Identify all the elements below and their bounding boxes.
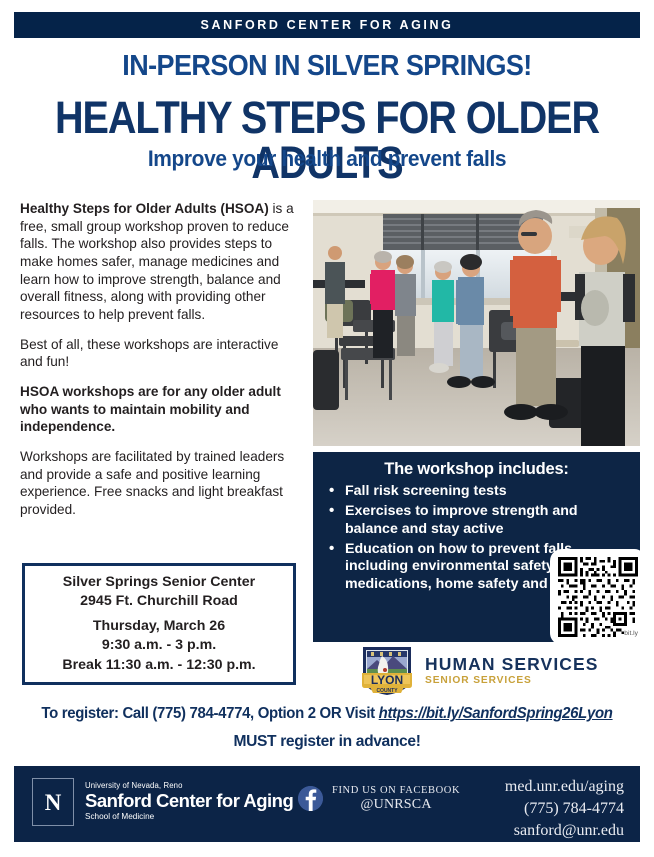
paragraph-intro-lead: Healthy Steps for Older Adults (HSOA) xyxy=(20,201,269,216)
page-title: HEALTHY STEPS FOR OLDER ADULTS xyxy=(39,95,615,185)
facebook-text-block: FIND US ON FACEBOOK @UNRSCA xyxy=(332,784,460,814)
svg-text:N: N xyxy=(45,790,62,815)
workshop-photo xyxy=(313,200,640,446)
footer-email[interactable]: sanford@unr.edu xyxy=(505,820,624,842)
svg-text:bit.ly: bit.ly xyxy=(624,630,638,637)
partner-name-block: HUMAN SERVICES SENIOR SERVICES xyxy=(425,655,599,688)
page-subtitle: Improve your health and prevent falls xyxy=(23,148,631,171)
facebook-cta: FIND US ON FACEBOOK xyxy=(332,784,460,797)
footer-facebook-block[interactable]: FIND US ON FACEBOOK @UNRSCA xyxy=(298,784,460,814)
register-line: To register: Call (775) 784-4774, Option… xyxy=(13,706,641,722)
event-break: Break 11:30 a.m. - 12:30 p.m. xyxy=(62,656,255,676)
body-copy: Healthy Steps for Older Adults (HSOA) is… xyxy=(20,200,296,531)
unr-n-letter: N xyxy=(40,787,66,817)
register-link[interactable]: https://bit.ly/SanfordSpring26Lyon xyxy=(379,705,613,722)
facebook-handle: @UNRSCA xyxy=(332,797,460,814)
org-banner-label: SANFORD CENTER FOR AGING xyxy=(201,18,454,32)
footer-unr-logo: N University of Nevada, Reno Sanford Cen… xyxy=(32,778,293,826)
footer-center-name: Sanford Center for Aging xyxy=(85,791,293,812)
footer-website[interactable]: med.unr.edu/aging xyxy=(505,776,624,798)
kicker-headline: IN-PERSON IN SILVER SPRINGS! xyxy=(23,52,631,81)
flyer-page: SANFORD CENTER FOR AGING IN-PERSON IN SI… xyxy=(0,0,654,857)
footer-contact-block: med.unr.edu/aging (775) 784-4774 sanford… xyxy=(505,776,624,842)
event-venue: Silver Springs Senior Center xyxy=(63,573,255,593)
unr-n-mark-icon: N xyxy=(32,778,74,826)
lyon-county-shield-icon: LYON COUNTY xyxy=(358,645,416,697)
facebook-f-glyph xyxy=(298,786,323,811)
paragraph-intro-rest: is a free, small group workshop proven t… xyxy=(20,201,294,322)
org-banner: SANFORD CENTER FOR AGING xyxy=(14,12,640,38)
workshop-includes-heading: The workshop includes: xyxy=(323,460,630,479)
footer-school-name: School of Medicine xyxy=(85,812,293,823)
workshop-photo-illustration xyxy=(313,200,640,446)
register-notice: MUST register in advance! xyxy=(0,734,654,750)
lyon-county-shield-art: LYON COUNTY xyxy=(358,645,416,697)
paragraph-intro: Healthy Steps for Older Adults (HSOA) is… xyxy=(20,200,296,324)
event-date: Thursday, March 26 xyxy=(93,617,225,637)
paragraph-fun: Best of all, these workshops are interac… xyxy=(20,336,296,371)
svg-text:LYON: LYON xyxy=(371,673,403,687)
list-item: Fall risk screening tests xyxy=(323,483,630,500)
footer-phone: (775) 784-4774 xyxy=(505,798,624,820)
partner-name: HUMAN SERVICES xyxy=(425,655,599,673)
svg-text:COUNTY: COUNTY xyxy=(376,688,398,694)
partner-logo-row: LYON COUNTY HUMAN SERVICES SENIOR SERVIC… xyxy=(358,645,638,697)
list-item: Exercises to improve strength and balanc… xyxy=(323,503,630,538)
facebook-icon[interactable] xyxy=(298,786,323,811)
qr-code-icon: bit.ly xyxy=(558,557,638,637)
paragraph-audience: HSOA workshops are for any older adult w… xyxy=(20,383,296,436)
event-address: 2945 Ft. Churchill Road xyxy=(80,592,238,612)
partner-division: SENIOR SERVICES xyxy=(425,675,599,687)
event-details-box: Silver Springs Senior Center 2945 Ft. Ch… xyxy=(22,563,296,685)
footer-unr-wordmark: University of Nevada, Reno Sanford Cente… xyxy=(85,781,293,823)
register-prefix: To register: Call (775) 784-4774, Option… xyxy=(41,705,378,722)
qr-code[interactable]: bit.ly xyxy=(551,550,645,644)
paragraph-facilitators: Workshops are facilitated by trained lea… xyxy=(20,448,296,519)
event-time: 9:30 a.m. - 3 p.m. xyxy=(102,636,216,656)
footer-bar: N University of Nevada, Reno Sanford Cen… xyxy=(14,766,640,842)
